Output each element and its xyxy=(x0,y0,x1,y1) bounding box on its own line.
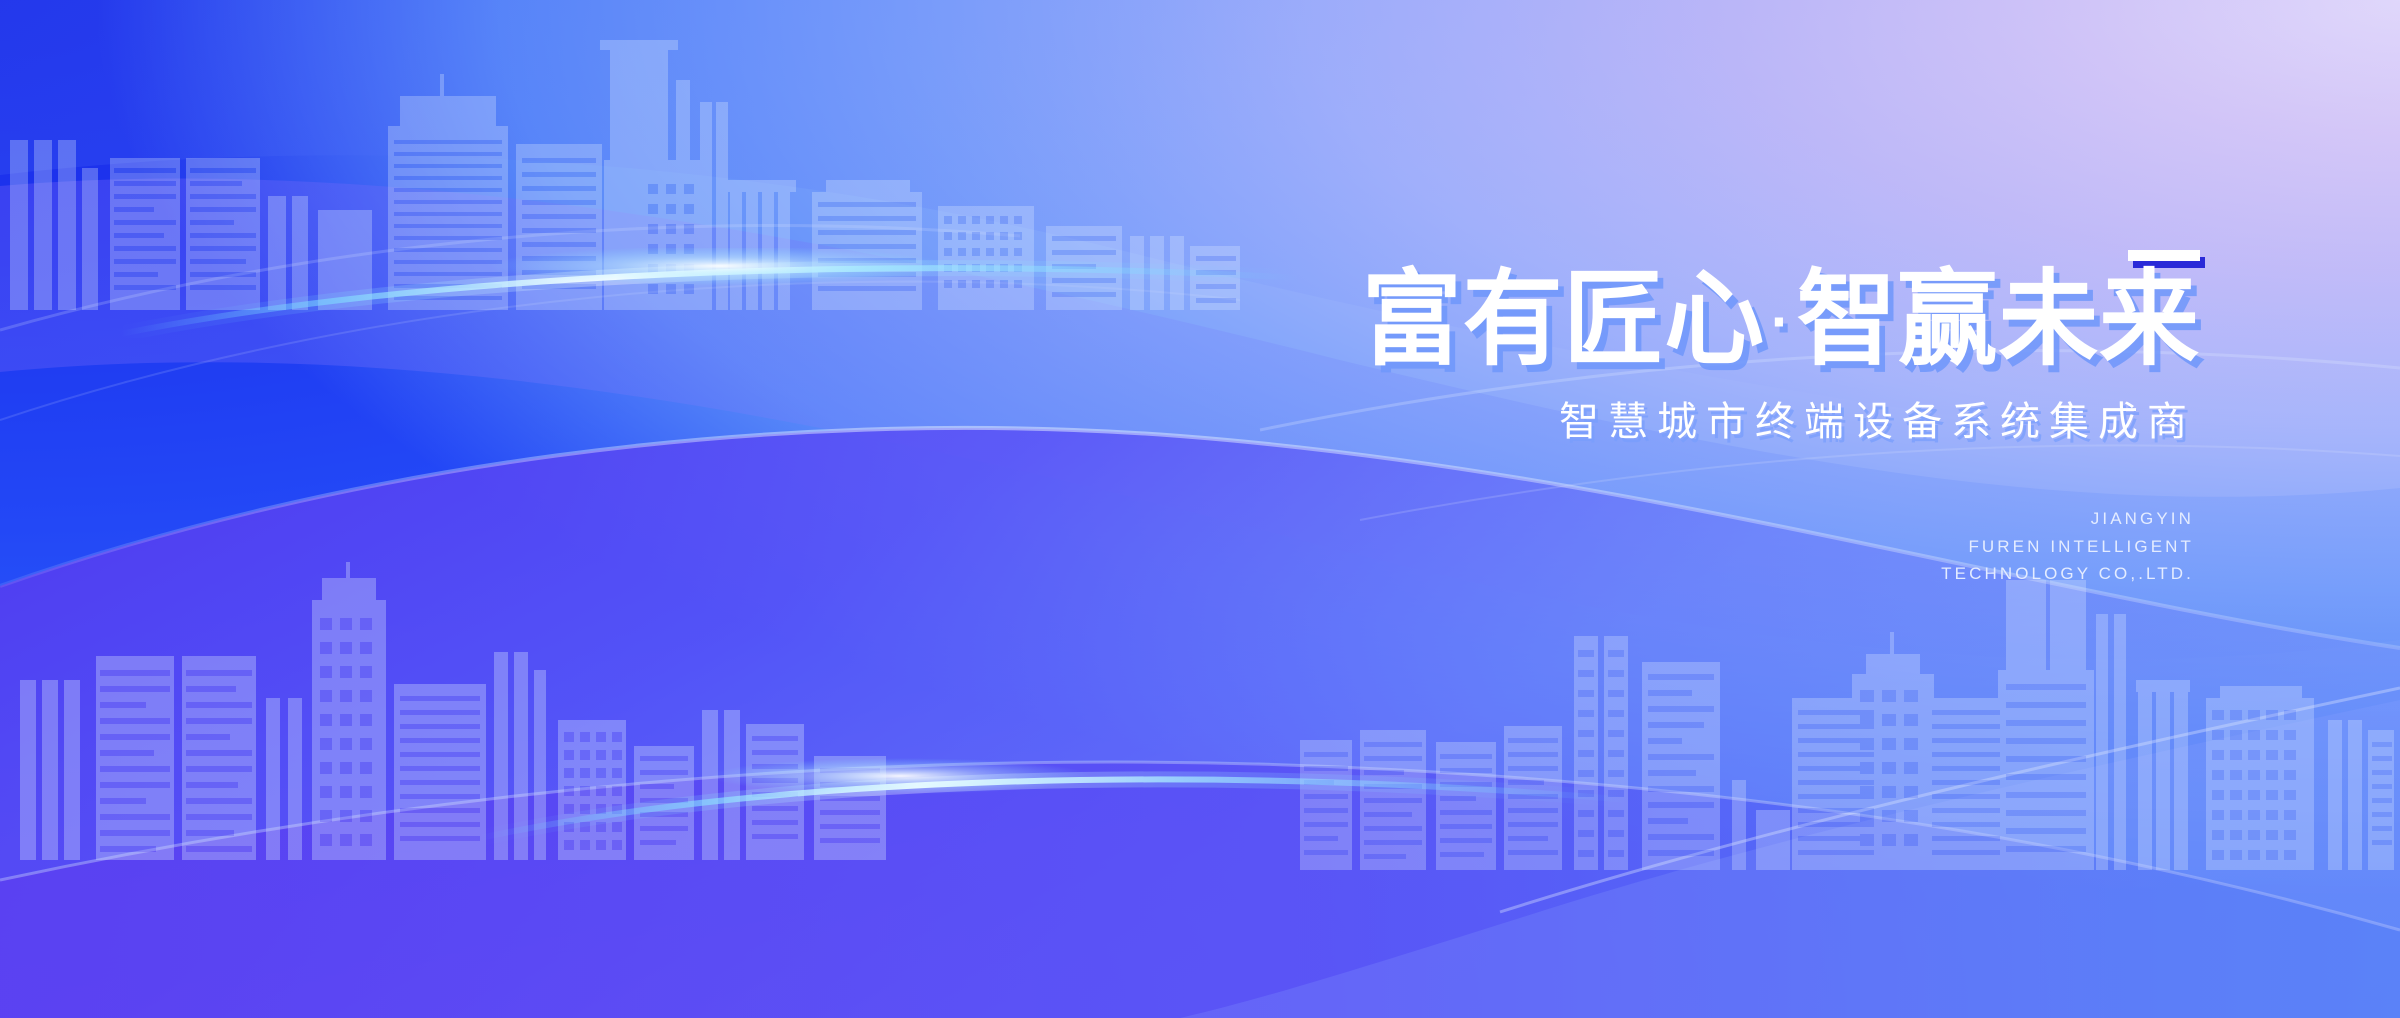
company-name-block: JIANGYIN FUREN INTELLIGENT TECHNOLOGY CO… xyxy=(900,505,2200,588)
banner-text-block: 富有匠心·智赢未来 智慧城市终端设备系统集成商 JIANGYIN FUREN I… xyxy=(900,250,2200,588)
headline-left: 富有匠心 xyxy=(1362,262,1765,378)
company-line-city: JIANGYIN xyxy=(900,505,2194,533)
page-title: 富有匠心·智赢未来 xyxy=(952,267,2200,373)
company-line-name: FUREN INTELLIGENT xyxy=(900,533,2194,561)
promotional-banner: 富有匠心·智赢未来 智慧城市终端设备系统集成商 JIANGYIN FUREN I… xyxy=(0,0,2400,1018)
headline-right: 智赢未来 xyxy=(1797,262,2200,378)
city-skyline-right xyxy=(1290,580,2400,870)
headline-separator: · xyxy=(1765,291,1797,352)
subtitle: 智慧城市终端设备系统集成商 xyxy=(900,389,2200,447)
glow-arc-bottom xyxy=(480,756,1630,846)
dash-accent-mark xyxy=(2128,250,2200,261)
company-line-suffix: TECHNOLOGY CO,.LTD. xyxy=(900,560,2194,588)
city-skyline-left xyxy=(0,560,900,860)
